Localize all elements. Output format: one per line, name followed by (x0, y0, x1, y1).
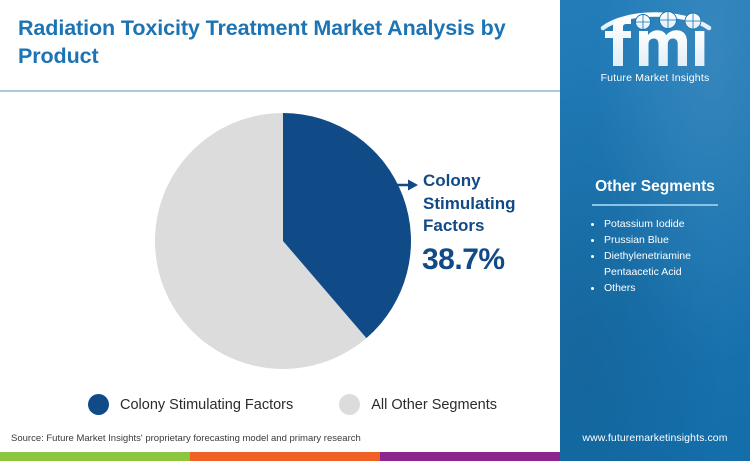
bar-segment-purple (380, 452, 560, 461)
list-item: Diethylenetriamine Pentaacetic Acid (588, 249, 748, 279)
source-note: Source: Future Market Insights' propriet… (11, 433, 361, 444)
other-segments-list: Potassium Iodide Prussian Blue Diethylen… (588, 217, 748, 297)
bar-segment-green (0, 452, 190, 461)
chart-legend: Colony Stimulating Factors All Other Seg… (88, 394, 497, 415)
fmi-logo: Future Market Insights (560, 8, 750, 84)
page-title: Radiation Toxicity Treatment Market Anal… (18, 14, 548, 71)
list-item: Prussian Blue (588, 233, 748, 248)
other-segments-title: Other Segments (560, 178, 750, 196)
legend-item-colony-stimulating-factors: Colony Stimulating Factors (88, 394, 293, 415)
arrow-right-icon (386, 178, 419, 192)
pie-chart (155, 113, 411, 369)
fmi-logo-tagline: Future Market Insights (560, 72, 750, 84)
legend-item-label: All Other Segments (371, 397, 497, 413)
bar-segment-orange (190, 452, 380, 461)
bottom-color-bar (0, 452, 560, 461)
site-url: www.futuremarketinsights.com (560, 432, 750, 444)
legend-item-all-other-segments: All Other Segments (339, 394, 497, 415)
other-segments-divider (592, 204, 718, 206)
legend-swatch-icon (339, 394, 360, 415)
fmi-logo-mark-icon (585, 8, 725, 70)
legend-item-label: Colony Stimulating Factors (120, 397, 293, 413)
main-content-area: Radiation Toxicity Treatment Market Anal… (0, 0, 560, 461)
right-side-panel: Future Market Insights Other Segments Po… (560, 0, 750, 461)
callout-label: Colony Stimulating Factors (423, 170, 548, 238)
list-item: Others (588, 281, 748, 296)
callout-value: 38.7% (422, 243, 505, 277)
legend-swatch-icon (88, 394, 109, 415)
list-item: Potassium Iodide (588, 217, 748, 232)
title-divider (0, 90, 560, 92)
